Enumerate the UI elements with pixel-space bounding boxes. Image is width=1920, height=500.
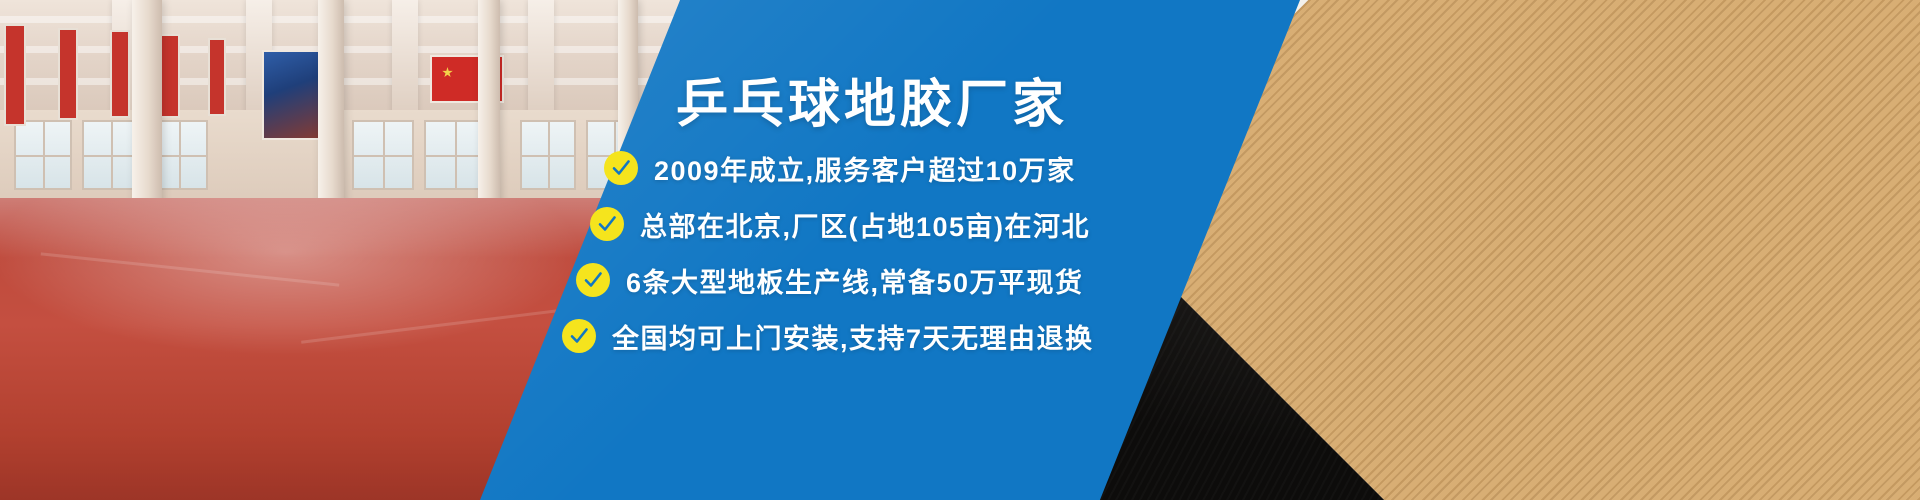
list-item: 全国均可上门安装,支持7天无理由退换 [0, 308, 1920, 364]
list-item: 2009年成立,服务客户超过10万家 [0, 140, 1920, 196]
wall-slogan-banner [4, 24, 26, 126]
page-title: 乒乓球地胶厂家 [676, 62, 1068, 137]
list-item-label: 6条大型地板生产线,常备50万平现货 [626, 261, 1084, 300]
wall-slogan-banner [58, 28, 78, 120]
wall-slogan-banner [208, 38, 226, 116]
feature-list: 2009年成立,服务客户超过10万家 总部在北京,厂区(占地105亩)在河北 6… [0, 140, 1920, 364]
flag-star-icon [442, 67, 453, 78]
wall-slogan-banner [110, 30, 130, 118]
list-item: 6条大型地板生产线,常备50万平现货 [0, 252, 1920, 308]
check-circle-icon [590, 207, 624, 241]
list-item-label: 2009年成立,服务客户超过10万家 [654, 149, 1076, 188]
wall-slogan-banner [160, 34, 180, 118]
check-circle-icon [604, 151, 638, 185]
check-circle-icon [576, 263, 610, 297]
check-circle-icon [562, 319, 596, 353]
list-item: 总部在北京,厂区(占地105亩)在河北 [0, 196, 1920, 252]
promo-banner: 乒乓球地胶厂家 2009年成立,服务客户超过10万家 总部在北京,厂区(占地10… [0, 0, 1920, 500]
ceiling-beam [392, 0, 418, 128]
list-item-label: 全国均可上门安装,支持7天无理由退换 [612, 317, 1094, 356]
list-item-label: 总部在北京,厂区(占地105亩)在河北 [640, 205, 1090, 244]
ceiling-beam [528, 0, 554, 128]
